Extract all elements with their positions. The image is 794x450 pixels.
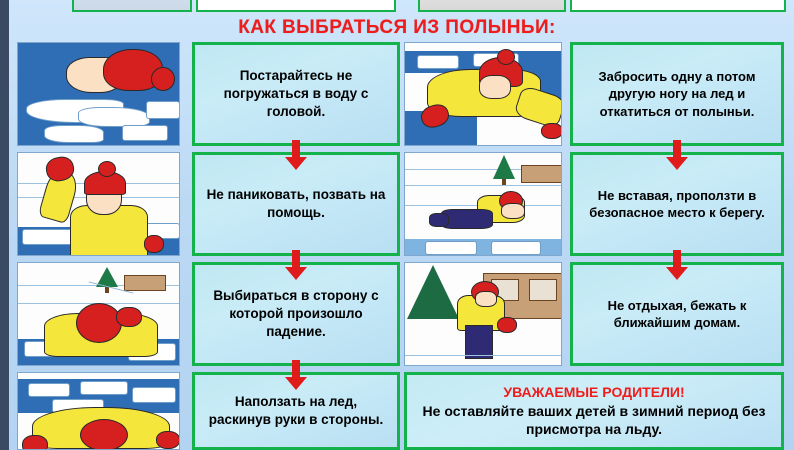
- arrow-step-1-to-2: [285, 140, 307, 170]
- arrow-step-6-to-7: [666, 250, 688, 280]
- page-title: КАК ВЫБРАТЬСЯ ИЗ ПОЛЫНЬИ:: [0, 17, 794, 39]
- arrow-step-5-to-6: [666, 140, 688, 170]
- illustration-running-to-houses: [404, 262, 562, 366]
- left-edge-strip: [0, 0, 9, 450]
- step-5-textbox: Забросить одну а потом другую ногу на ле…: [570, 42, 784, 146]
- illustration-waving-for-help: [17, 152, 180, 256]
- illustration-crawling-to-shore: [404, 152, 562, 256]
- illustration-spread-arms-on-ice: [17, 372, 180, 450]
- parents-notice-panel: УВАЖАЕМЫЕ РОДИТЕЛИ! Не оставляйте ваших …: [404, 372, 784, 450]
- parents-notice-body: Не оставляйте ваших детей в зимний перио…: [417, 402, 771, 438]
- illustration-head-above-water: [17, 42, 180, 146]
- arrow-step-3-to-4: [285, 360, 307, 390]
- cut-off-textbox-b: [196, 0, 396, 12]
- illustration-facing-shore: [17, 262, 180, 366]
- parents-notice-heading: УВАЖАЕМЫЕ РОДИТЕЛИ!: [503, 384, 684, 400]
- cut-off-textbox-d: [570, 0, 786, 12]
- cut-off-art-c: [420, 0, 564, 10]
- cut-off-art-a: [74, 0, 190, 10]
- arrow-step-2-to-3: [285, 250, 307, 280]
- cut-off-image-c: [418, 0, 566, 12]
- illustration-leg-onto-ice: [404, 42, 562, 146]
- cut-off-image-a: [72, 0, 192, 12]
- step-1-textbox: Постарайтесь не погружаться в воду с гол…: [192, 42, 400, 146]
